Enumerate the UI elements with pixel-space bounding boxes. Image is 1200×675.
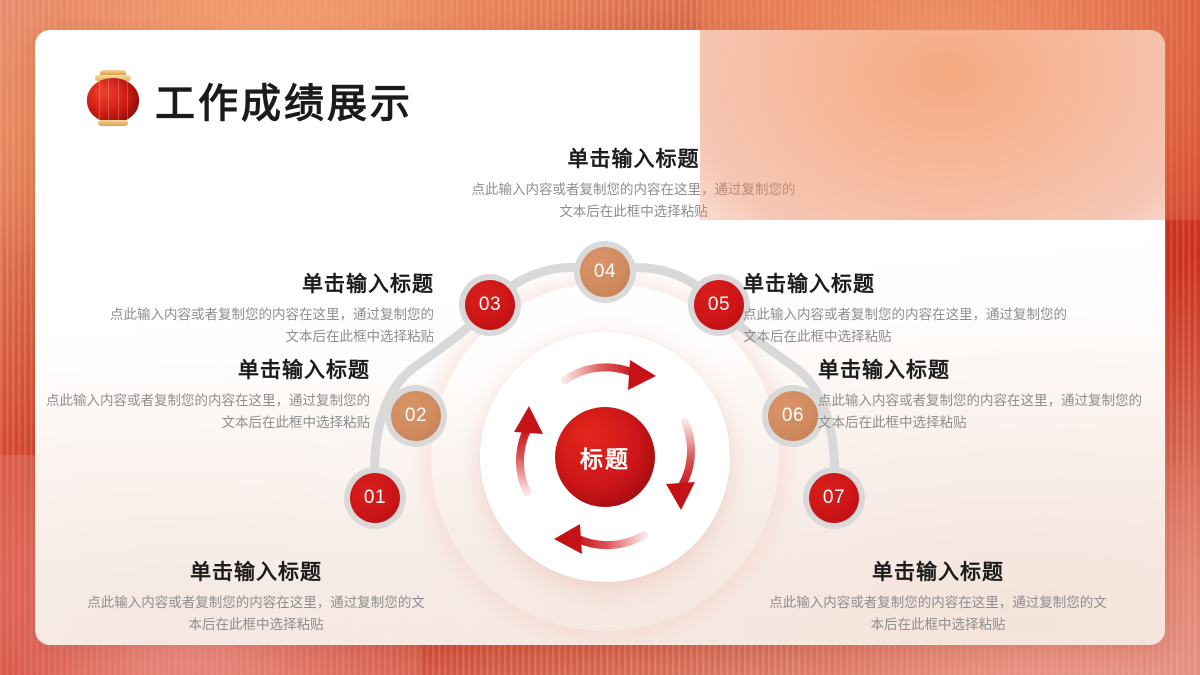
node-06-number: 06 xyxy=(768,391,818,441)
label-block-01[interactable]: 单击输入标题 点此输入内容或者复制您的内容在这里，通过复制您的文本后在此框中选择… xyxy=(83,556,429,636)
node-01[interactable]: 01 xyxy=(344,467,406,529)
label-heading-04: 单击输入标题 xyxy=(431,143,836,173)
label-heading-05: 单击输入标题 xyxy=(743,268,1073,298)
label-block-05[interactable]: 单击输入标题 点此输入内容或者复制您的内容在这里，通过复制您的文本后在此框中选择… xyxy=(743,268,1073,348)
node-07[interactable]: 07 xyxy=(803,467,865,529)
node-02[interactable]: 02 xyxy=(385,385,447,447)
label-heading-01: 单击输入标题 xyxy=(83,556,429,586)
cycle-diagram: 标题 01 02 03 04 05 06 07 xyxy=(35,30,1165,645)
node-01-number: 01 xyxy=(350,473,400,523)
label-heading-02: 单击输入标题 xyxy=(40,354,370,384)
node-04[interactable]: 04 xyxy=(574,241,636,303)
center-hub-label: 标题 xyxy=(580,440,630,474)
node-05[interactable]: 05 xyxy=(688,274,750,336)
label-block-06[interactable]: 单击输入标题 点此输入内容或者复制您的内容在这里，通过复制您的文本后在此框中选择… xyxy=(818,354,1148,434)
label-heading-03: 单击输入标题 xyxy=(104,268,434,298)
node-02-number: 02 xyxy=(391,391,441,441)
node-03-number: 03 xyxy=(465,280,515,330)
label-body-01: 点此输入内容或者复制您的内容在这里，通过复制您的文本后在此框中选择粘贴 xyxy=(83,592,429,636)
label-block-02[interactable]: 单击输入标题 点此输入内容或者复制您的内容在这里，通过复制您的文本后在此框中选择… xyxy=(40,354,370,434)
node-06[interactable]: 06 xyxy=(762,385,824,447)
label-block-04[interactable]: 单击输入标题 点此输入内容或者复制您的内容在这里，通过复制您的文本后在此框中选择… xyxy=(431,143,836,223)
label-body-04: 点此输入内容或者复制您的内容在这里，通过复制您的文本后在此框中选择粘贴 xyxy=(431,179,836,223)
label-heading-07: 单击输入标题 xyxy=(765,556,1111,586)
label-heading-06: 单击输入标题 xyxy=(818,354,1148,384)
label-body-02: 点此输入内容或者复制您的内容在这里，通过复制您的文本后在此框中选择粘贴 xyxy=(40,390,370,434)
node-03[interactable]: 03 xyxy=(459,274,521,336)
content-card: 工作成绩展示 xyxy=(35,30,1165,645)
label-block-03[interactable]: 单击输入标题 点此输入内容或者复制您的内容在这里，通过复制您的文本后在此框中选择… xyxy=(104,268,434,348)
label-block-07[interactable]: 单击输入标题 点此输入内容或者复制您的内容在这里，通过复制您的文本后在此框中选择… xyxy=(765,556,1111,636)
node-04-number: 04 xyxy=(580,247,630,297)
node-05-number: 05 xyxy=(694,280,744,330)
label-body-07: 点此输入内容或者复制您的内容在这里，通过复制您的文本后在此框中选择粘贴 xyxy=(765,592,1111,636)
label-body-06: 点此输入内容或者复制您的内容在这里，通过复制您的文本后在此框中选择粘贴 xyxy=(818,390,1148,434)
label-body-03: 点此输入内容或者复制您的内容在这里，通过复制您的文本后在此框中选择粘贴 xyxy=(104,304,434,348)
slide-canvas: 工作成绩展示 xyxy=(0,0,1200,675)
label-body-05: 点此输入内容或者复制您的内容在这里，通过复制您的文本后在此框中选择粘贴 xyxy=(743,304,1073,348)
center-hub: 标题 xyxy=(480,332,730,582)
node-07-number: 07 xyxy=(809,473,859,523)
center-hub-core: 标题 xyxy=(555,407,655,507)
